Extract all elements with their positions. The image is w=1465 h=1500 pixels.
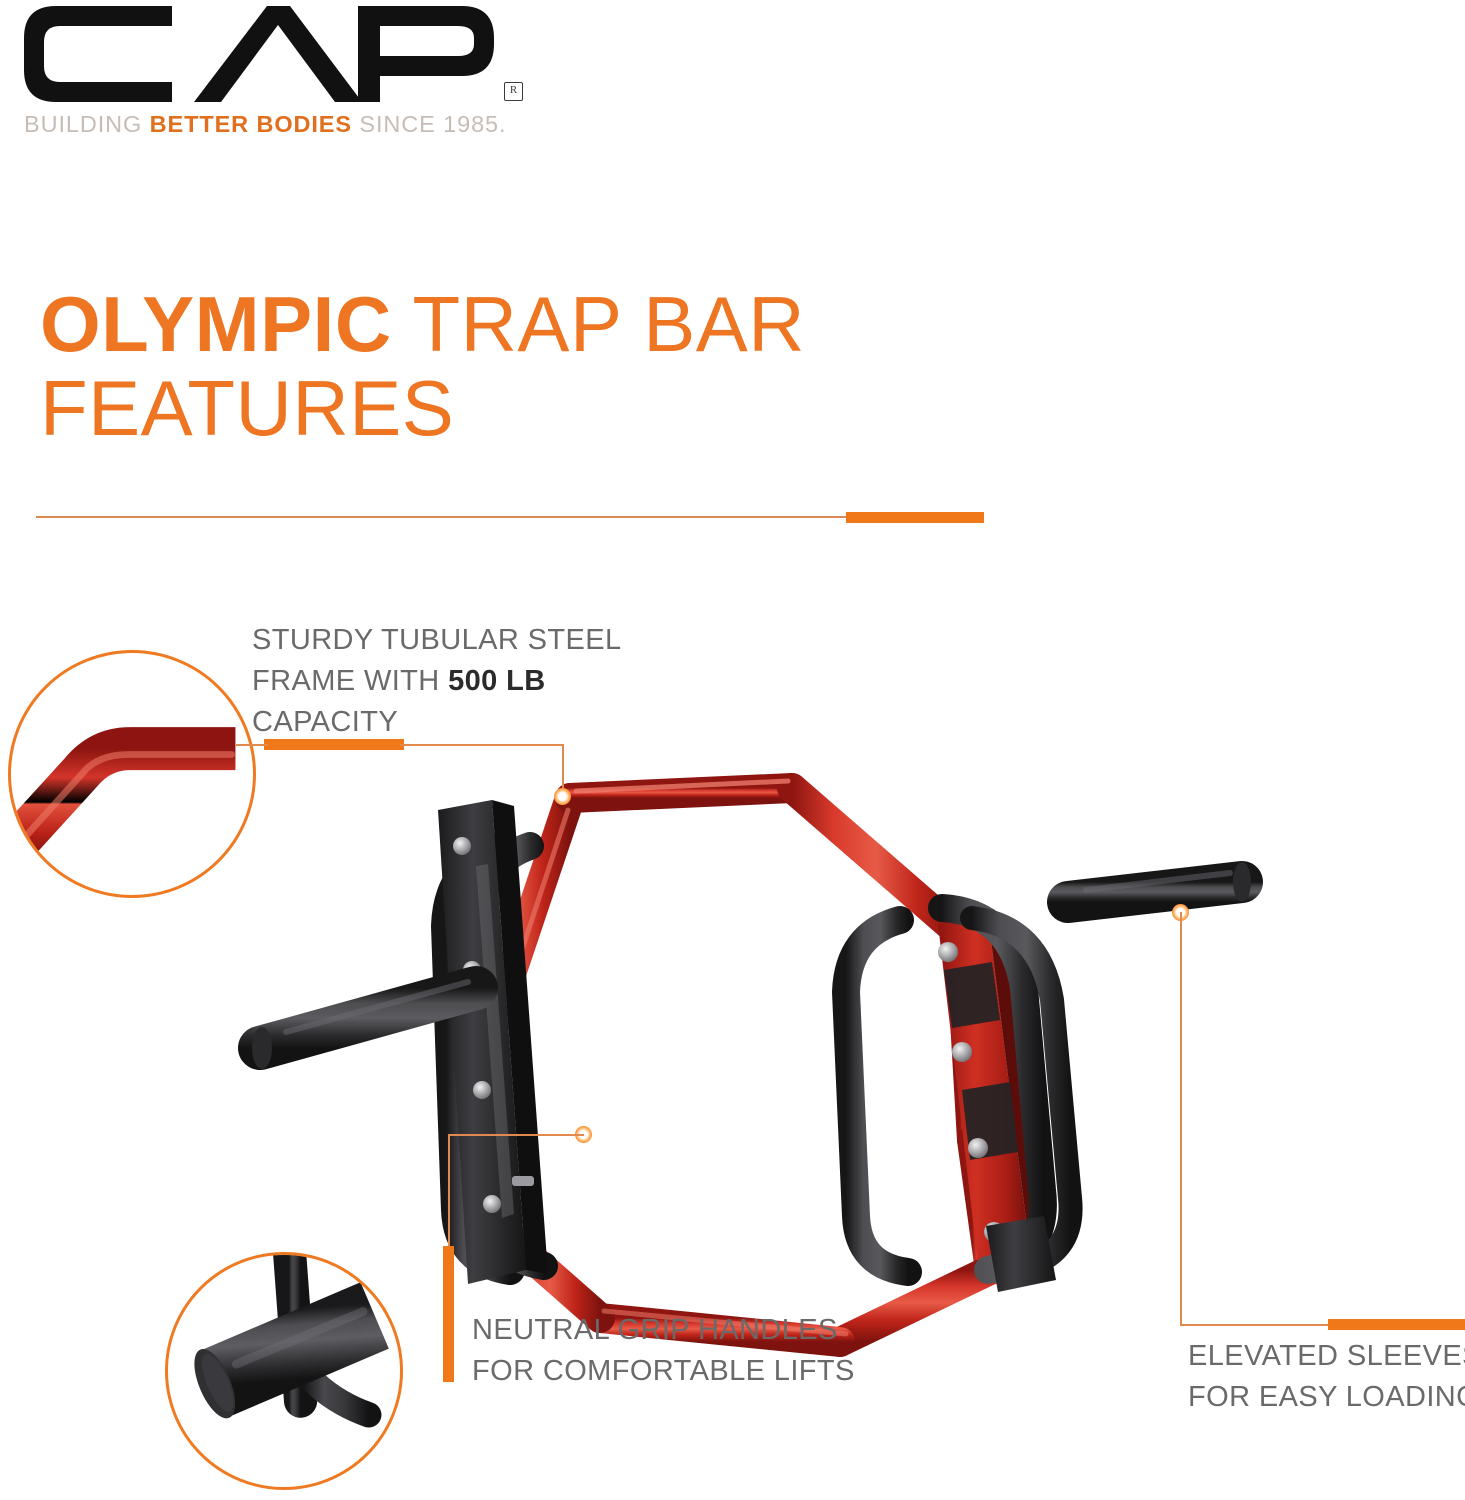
callout-handles-line-1: NEUTRAL GRIP HANDLES: [472, 1310, 855, 1351]
divider-accent-bar: [846, 512, 984, 523]
leader-segment-handles-horizontal: [448, 1134, 584, 1136]
page-title-rest: TRAP BAR: [392, 280, 805, 368]
callout-sleeves: ELEVATED SLEEVES FOR EASY LOADING: [1188, 1336, 1465, 1418]
product-feature-infographic: R BUILDING BETTER BODIES SINCE 1985. OLY…: [0, 0, 1465, 1500]
leader-dot-capacity: [554, 788, 571, 805]
page-title-line-1: OLYMPIC TRAP BAR: [40, 282, 1040, 366]
handle-end-detail-image: [168, 1255, 400, 1487]
callout-sleeves-line-2: FOR EASY LOADING: [1188, 1377, 1465, 1418]
leader-segment-capacity-right: [400, 744, 564, 746]
page-title: OLYMPIC TRAP BAR FEATURES: [40, 282, 1040, 450]
divider-thin-rule: [36, 516, 984, 518]
callout-capacity-line-2: FRAME WITH 500 LB: [252, 661, 622, 702]
frame-bend-detail-image: [11, 653, 253, 895]
leader-segment-handles-vertical: [448, 1134, 450, 1250]
page-title-line-2: FEATURES: [40, 366, 1040, 450]
page-title-emphasis: OLYMPIC: [40, 280, 392, 368]
callout-handles-line-2: FOR COMFORTABLE LIFTS: [472, 1351, 855, 1392]
detail-circle-handle-end: [165, 1252, 403, 1490]
leader-segment-capacity-left: [236, 744, 268, 746]
callout-capacity-line-2-prefix: FRAME WITH: [252, 665, 448, 697]
leader-accent-bar-handles: [443, 1246, 454, 1382]
left-handle-assembly: [252, 800, 548, 1284]
callout-sleeves-line-1: ELEVATED SLEEVES: [1188, 1336, 1465, 1377]
leader-segment-sleeves-horizontal: [1180, 1324, 1352, 1326]
leader-accent-bar-sleeves: [1328, 1319, 1465, 1330]
brand-logo: R BUILDING BETTER BODIES SINCE 1985.: [22, 4, 522, 144]
callout-capacity: STURDY TUBULAR STEEL FRAME WITH 500 LB C…: [252, 620, 622, 743]
callout-capacity-value: 500 LB: [448, 665, 546, 697]
tagline-part-2: BETTER BODIES: [150, 111, 352, 137]
callout-capacity-line-1: STURDY TUBULAR STEEL: [252, 620, 622, 661]
detail-circle-frame-bend: [8, 650, 256, 898]
registered-trademark-icon: R: [504, 82, 523, 101]
cap-wordmark-icon: [22, 4, 502, 104]
brand-tagline: BUILDING BETTER BODIES SINCE 1985.: [24, 111, 506, 138]
right-handle-assembly: [846, 862, 1251, 1292]
tagline-part-1: BUILDING: [24, 111, 150, 137]
callout-capacity-line-3: CAPACITY: [252, 702, 622, 743]
leader-segment-sleeves-vertical: [1180, 912, 1182, 1326]
title-divider: [36, 511, 984, 523]
callout-handles: NEUTRAL GRIP HANDLES FOR COMFORTABLE LIF…: [472, 1310, 855, 1392]
tagline-part-3: SINCE 1985.: [352, 111, 507, 137]
